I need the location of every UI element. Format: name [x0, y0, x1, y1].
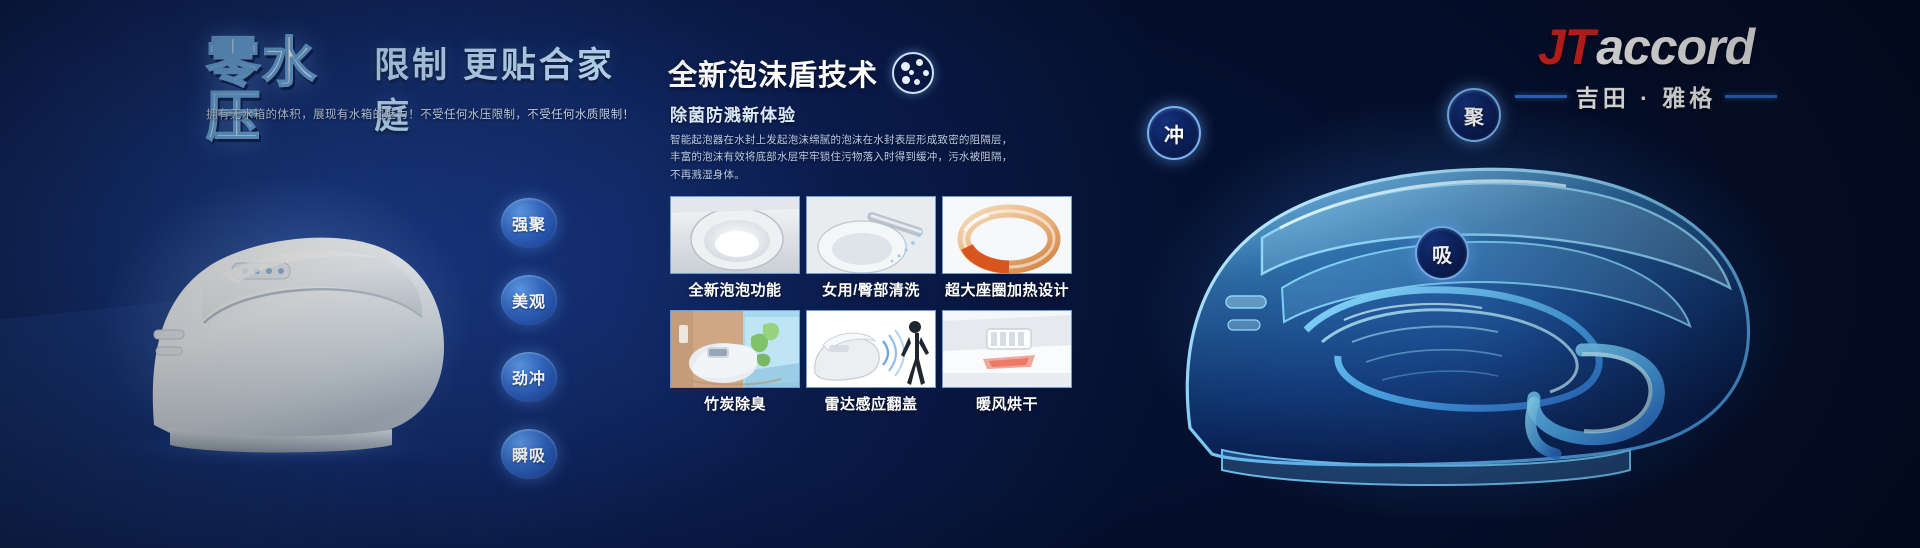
paragraph-line: 智能起泡器在水封上发起泡沫绵腻的泡沫在水封表层形成致密的阻隔层，	[670, 132, 1000, 149]
feature-pill-label: 强聚	[512, 211, 546, 235]
feature-pill-label: 瞬吸	[512, 442, 546, 466]
thumbnail-cell[interactable]: 暖风烘干	[942, 310, 1072, 414]
thumbnail-cell[interactable]: 雷达感应翻盖	[806, 310, 936, 414]
promo-banner: 零水压 限制 更贴合家庭 拥有无水箱的体积，展现有水箱的魅力！不受任何水压限制，…	[0, 0, 1920, 548]
bidet-nozzle-spray-photo	[806, 196, 936, 274]
middle-paragraph: 智能起泡器在水封上发起泡沫绵腻的泡沫在水封表层形成致密的阻隔层， 丰富的泡沫有效…	[670, 132, 1000, 184]
feature-pill-label: 劲冲	[512, 365, 546, 389]
thumbnail-cell[interactable]: 超大座圈加热设计	[942, 196, 1072, 300]
warm-air-dryer-photo	[942, 310, 1072, 388]
xbadge-gather[interactable]: 聚	[1447, 88, 1501, 142]
brand-jt-text: JT	[1538, 22, 1594, 72]
middle-feature-block: 全新泡沫盾技术 除菌防溅新体验 智能起泡器在水封上发起泡沫绵腻的泡沫在水封表层形…	[668, 0, 1088, 548]
xbadge-suction[interactable]: 吸	[1415, 226, 1469, 280]
xbadge-label: 吸	[1432, 239, 1452, 268]
feature-pill-2[interactable]: 劲冲	[501, 352, 557, 402]
smart-toilet-product-photo	[92, 125, 472, 455]
thumbnail-cell[interactable]: 全新泡泡功能	[670, 196, 800, 300]
thumbnail-caption: 暖风烘干	[942, 393, 1072, 414]
headline-description: 拥有无水箱的体积，展现有水箱的魅力！不受任何水压限制，不受任何水质限制！	[206, 106, 606, 122]
feature-pill-0[interactable]: 强聚	[501, 198, 557, 248]
xray-toilet-flush-path-render	[1130, 98, 1810, 518]
bubble-cluster-icon	[892, 52, 934, 94]
thumbnail-caption: 女用/臀部清洗	[806, 279, 936, 300]
thumbnail-caption: 超大座圈加热设计	[942, 279, 1072, 300]
xbadge-label: 聚	[1464, 101, 1484, 130]
thumbnail-caption: 全新泡泡功能	[670, 279, 800, 300]
heated-seat-ring-photo	[942, 196, 1072, 274]
middle-subheading: 除菌防溅新体验	[670, 101, 796, 126]
feature-pill-label: 美观	[512, 288, 546, 312]
middle-heading: 全新泡沫盾技术	[668, 52, 878, 94]
paragraph-line: 不再溅湿身体。	[670, 167, 1000, 184]
right-brand-block: JT accord 吉田 · 雅格	[1120, 0, 1920, 548]
thumbnail-caption: 雷达感应翻盖	[806, 393, 936, 414]
xbadge-label: 冲	[1164, 119, 1184, 148]
thumbnail-cell[interactable]: 竹炭除臭	[670, 310, 800, 414]
bamboo-charcoal-deodorize-photo	[670, 310, 800, 388]
brand-accord-text: accord	[1596, 22, 1754, 72]
xbadge-flush[interactable]: 冲	[1147, 106, 1201, 160]
thumbnail-caption: 竹炭除臭	[670, 393, 800, 414]
left-feature-block: 零水压 限制 更贴合家庭 拥有无水箱的体积，展现有水箱的魅力！不受任何水压限制，…	[0, 0, 620, 548]
thumbnail-cell[interactable]: 女用/臀部清洗	[806, 196, 936, 300]
radar-sensor-auto-lid-photo	[806, 310, 936, 388]
paragraph-line: 丰富的泡沫有效将底部水层牢牢锁住污物落入时得到缓冲，污水被阻隔，	[670, 149, 1000, 166]
middle-heading-row: 全新泡沫盾技术	[668, 52, 934, 94]
brand-wordmark: JT accord	[1496, 22, 1796, 72]
feature-thumbnail-grid: 全新泡泡功能 女用/臀部清洗	[670, 196, 1072, 414]
feature-pill-3[interactable]: 瞬吸	[501, 429, 557, 479]
feature-pill-1[interactable]: 美观	[501, 275, 557, 325]
toilet-bowl-foam-photo	[670, 196, 800, 274]
feature-pill-list: 强聚 美观 劲冲 瞬吸	[501, 198, 557, 479]
